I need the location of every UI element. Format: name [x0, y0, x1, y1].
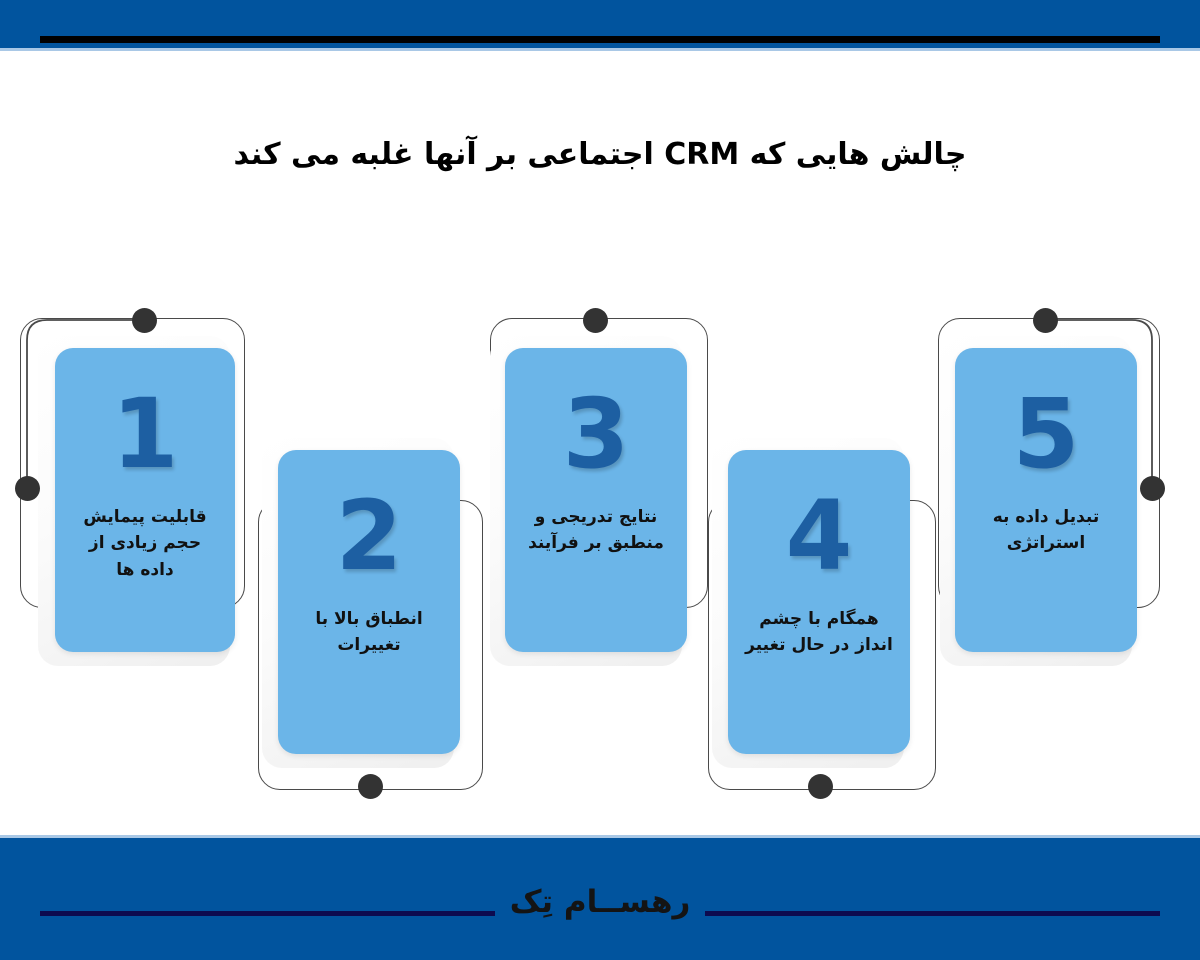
step-number-2: 2 [336, 488, 403, 584]
footer-logo: رهســام تِک [480, 884, 720, 920]
step-card-2[interactable]: 2 انطباق بالا با تغییرات [278, 450, 460, 754]
footer-rule-right [705, 911, 1160, 916]
step-number-4: 4 [786, 488, 853, 584]
infographic-poster: چالش هایی که CRM اجتماعی بر آنها غلبه می… [0, 0, 1200, 960]
step-card-3[interactable]: 3 نتایج تدریجی و منطبق بر فرآیند [505, 348, 687, 652]
connector-dot-top-3 [583, 308, 608, 333]
step-number-1: 1 [112, 386, 179, 482]
step-label-1: قابلیت پیمایش حجم زیادی از داده ها [55, 504, 235, 583]
footer-rule-left [40, 911, 495, 916]
connector-dot-left-end [15, 476, 40, 501]
step-card-1[interactable]: 1 قابلیت پیمایش حجم زیادی از داده ها [55, 348, 235, 652]
step-label-2: انطباق بالا با تغییرات [278, 606, 460, 659]
step-label-3: نتایج تدریجی و منطبق بر فرآیند [505, 504, 687, 557]
step-number-5: 5 [1013, 386, 1080, 482]
diagram-area: 1 قابلیت پیمایش حجم زیادی از داده ها 2 ا… [0, 0, 1200, 960]
step-card-5[interactable]: 5 تبدیل داده به استراتژی [955, 348, 1137, 652]
step-label-4: همگام با چشم انداز در حال تغییر [728, 606, 910, 659]
step-card-4[interactable]: 4 همگام با چشم انداز در حال تغییر [728, 450, 910, 754]
step-number-3: 3 [563, 386, 630, 482]
connector-dot-bottom-4 [808, 774, 833, 799]
connector-dot-top-5 [1033, 308, 1058, 333]
connector-dot-right-end [1140, 476, 1165, 501]
step-label-5: تبدیل داده به استراتژی [955, 504, 1137, 557]
connector-dot-top-1 [132, 308, 157, 333]
connector-dot-bottom-2 [358, 774, 383, 799]
